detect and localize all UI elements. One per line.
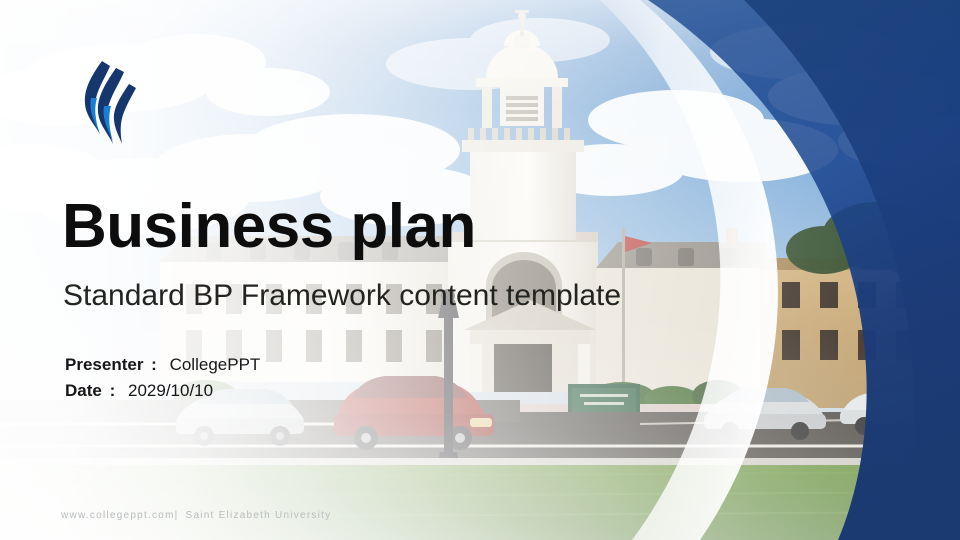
footer-org: Saint Elizabeth University: [186, 510, 332, 521]
presenter-row: Presenter : CollegePPT: [65, 352, 260, 378]
flame-logo: [82, 58, 140, 148]
presenter-separator: :: [148, 355, 158, 374]
page-subtitle: Standard BP Framework content template: [63, 279, 621, 312]
presenter-label: Presenter: [65, 355, 143, 374]
date-label: Date: [65, 381, 102, 400]
page-title: Business plan: [62, 196, 476, 258]
date-row: Date : 2029/10/10: [65, 378, 260, 404]
date-value: 2029/10/10: [121, 381, 213, 400]
date-separator: :: [107, 381, 117, 400]
presenter-value: CollegePPT: [163, 355, 261, 374]
footer-site: www.collegeppt.com|: [61, 510, 182, 521]
footer: www.collegeppt.com| Saint Elizabeth Univ…: [61, 510, 331, 521]
presentation-slide: Business plan Standard BP Framework cont…: [0, 0, 960, 540]
slide-meta: Presenter : CollegePPT Date : 2029/10/10: [65, 352, 260, 405]
